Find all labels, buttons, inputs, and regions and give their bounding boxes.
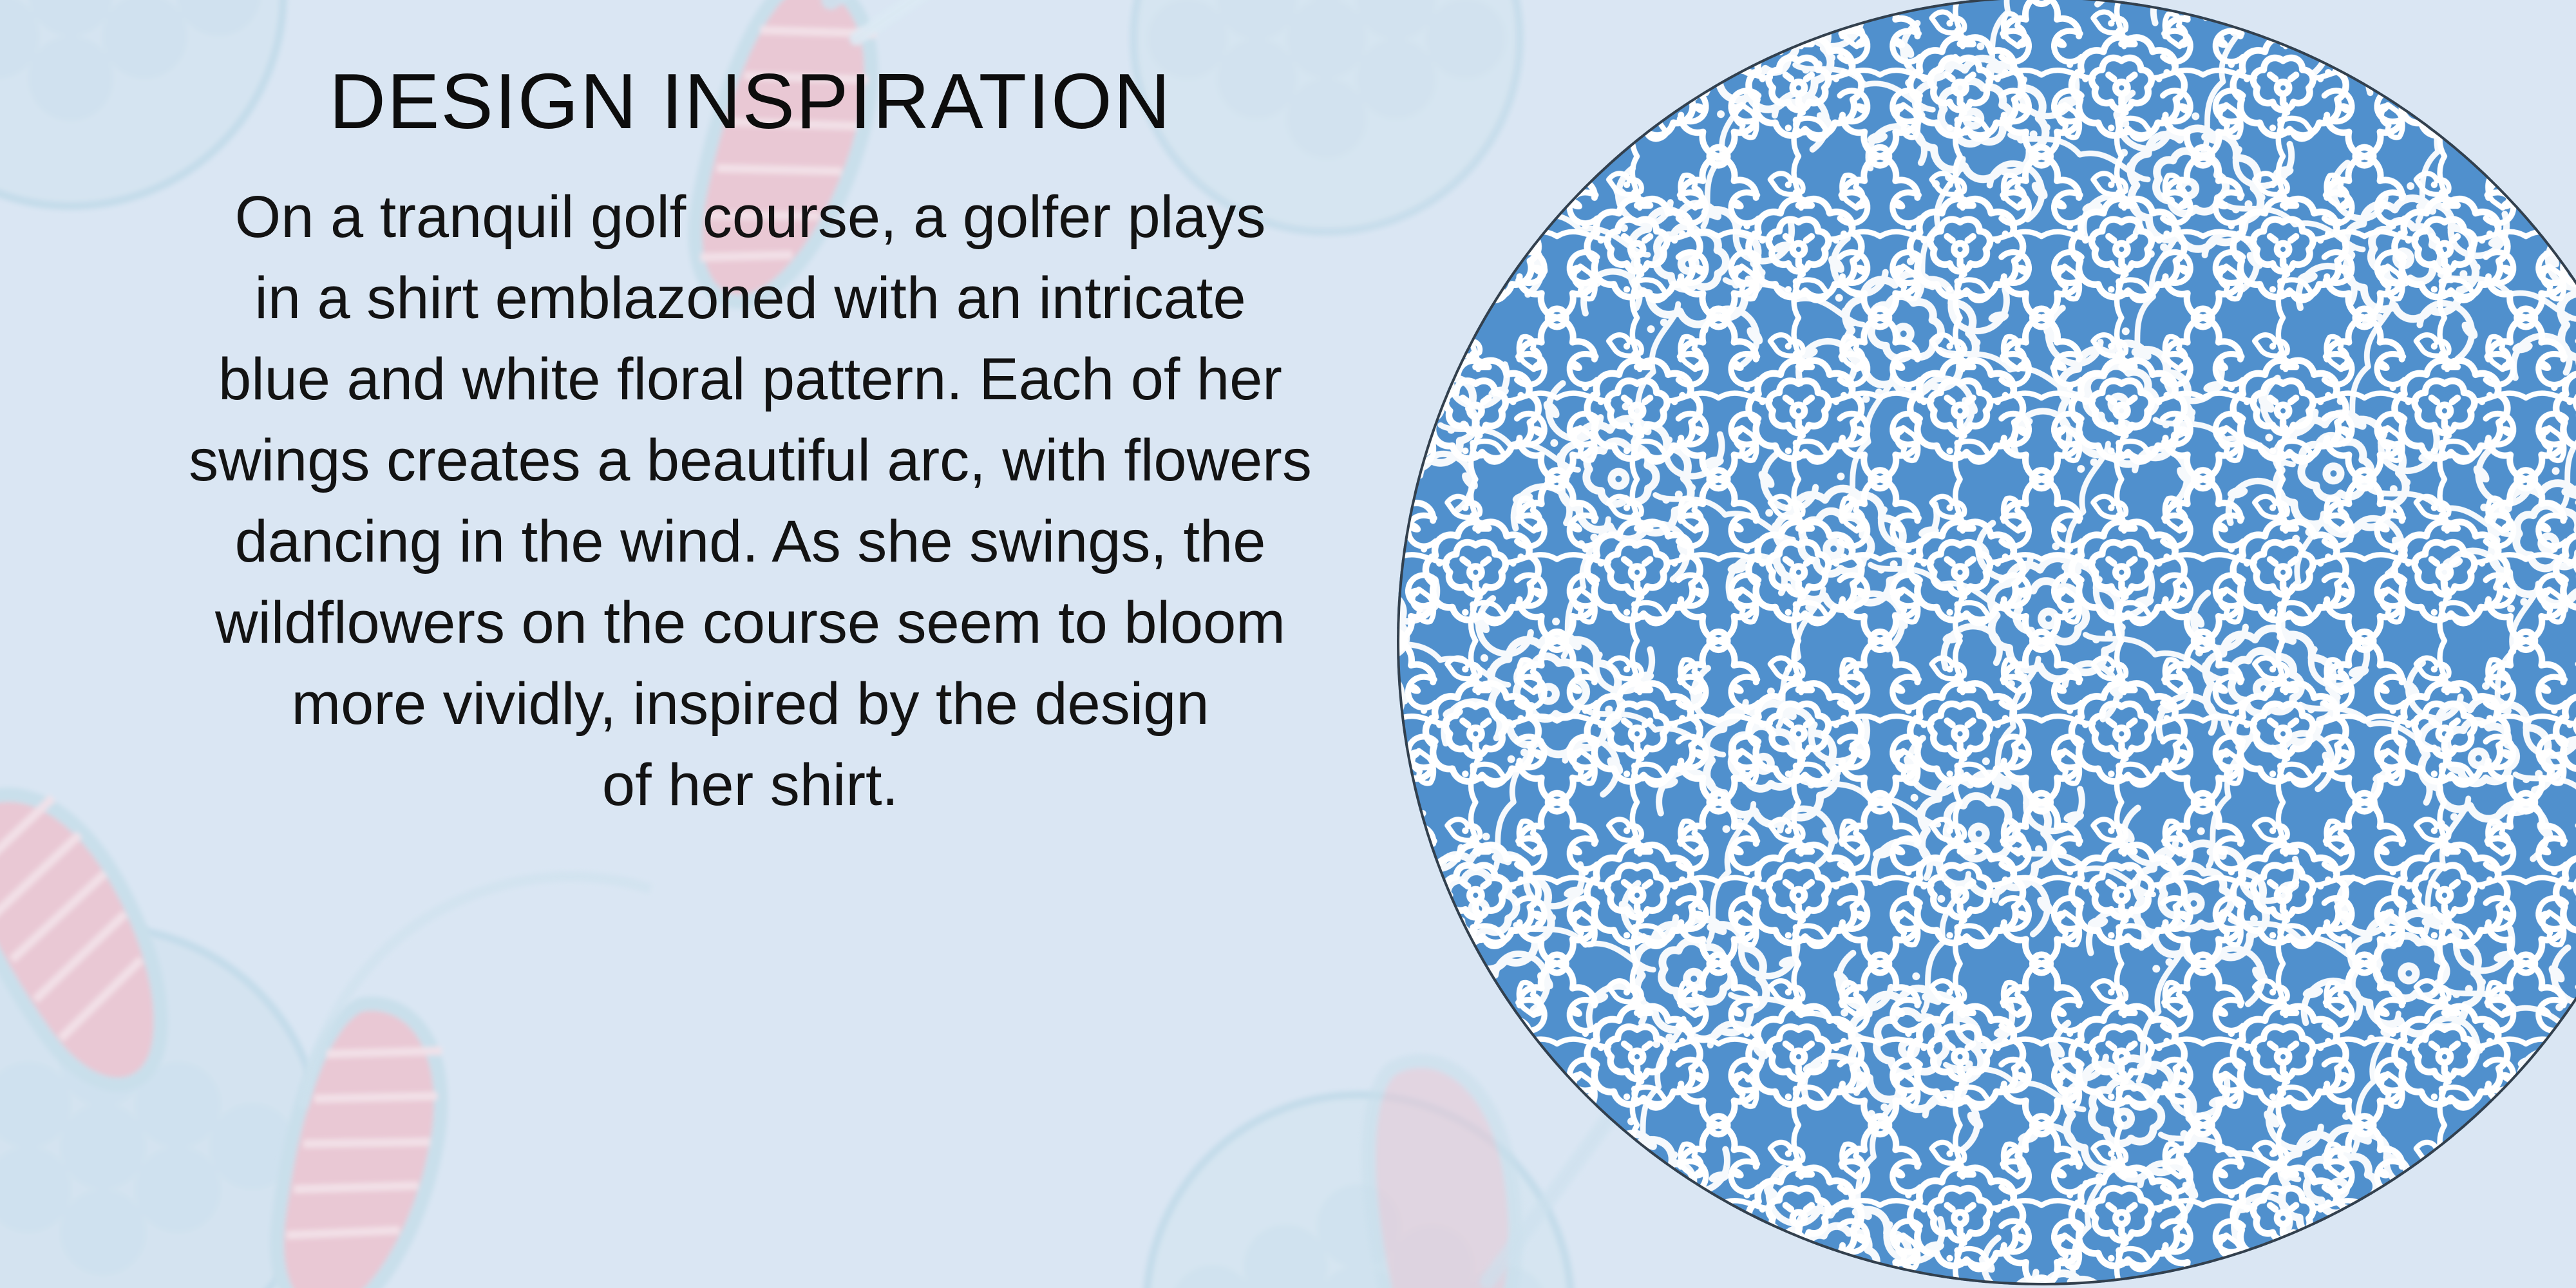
- text-column: DESIGN INSPIRATION On a tranquil golf co…: [0, 0, 1501, 1288]
- body-line: of her shirt.: [42, 744, 1459, 826]
- body-line: dancing in the wind. As she swings, the: [42, 501, 1459, 582]
- slide-canvas: DESIGN INSPIRATION On a tranquil golf co…: [0, 0, 2576, 1288]
- floral-pattern-medallion: [1396, 0, 2576, 1287]
- body-line: swings creates a beautiful arc, with flo…: [42, 420, 1459, 501]
- body-line: more vividly, inspired by the design: [42, 663, 1459, 744]
- body-line: in a shirt emblazoned with an intricate: [42, 258, 1459, 339]
- body-copy: On a tranquil golf course, a golfer play…: [42, 176, 1459, 826]
- floral-pattern-fill: [1396, 0, 2576, 1287]
- body-line: blue and white floral pattern. Each of h…: [42, 339, 1459, 420]
- body-line: On a tranquil golf course, a golfer play…: [42, 176, 1459, 258]
- body-line: wildflowers on the course seem to bloom: [42, 582, 1459, 663]
- page-title: DESIGN INSPIRATION: [329, 62, 1171, 140]
